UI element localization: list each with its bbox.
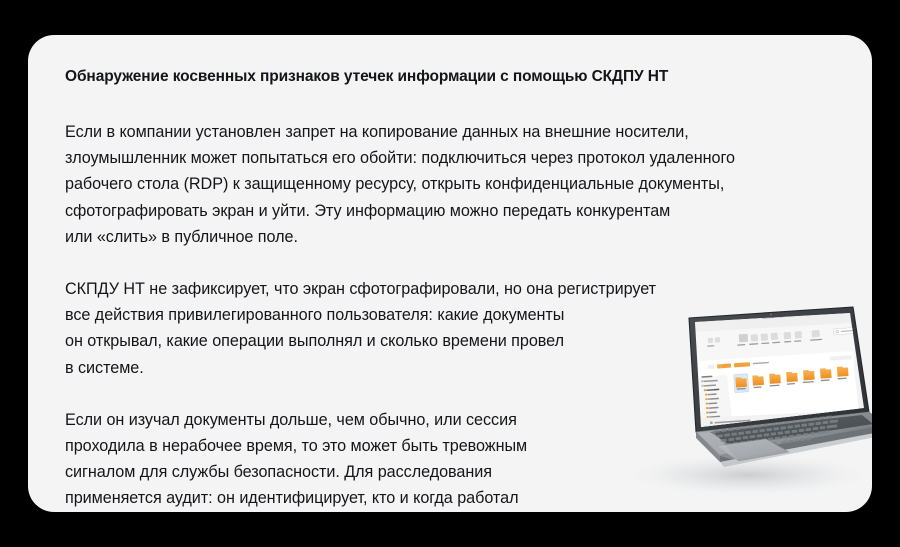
search-input[interactable] [833,326,872,335]
article-paragraph-2: СКПДУ НТ не зафиксирует, что экран сфото… [65,276,805,381]
help-icon[interactable] [858,355,862,359]
folder-item[interactable] [837,366,849,379]
laptop-ports [871,422,872,428]
folder-item[interactable] [820,368,832,381]
screenshot-root: Обнаружение косвенных признаков утечек и… [0,0,900,547]
view-options-button[interactable] [830,355,852,360]
article-paragraph-1: Если в компании установлен запрет на коп… [65,119,805,250]
page-title: Обнаружение косвенных признаков утечек и… [65,66,805,88]
article-card: Обнаружение косвенных признаков утечек и… [28,35,872,512]
search-icon [836,330,839,333]
article-card-inner: Обнаружение косвенных признаков утечек и… [28,35,872,512]
article-paragraph-3: Если он изучал документы дольше, чем обы… [65,407,805,512]
article-content: Обнаружение косвенных признаков утечек и… [65,66,805,512]
